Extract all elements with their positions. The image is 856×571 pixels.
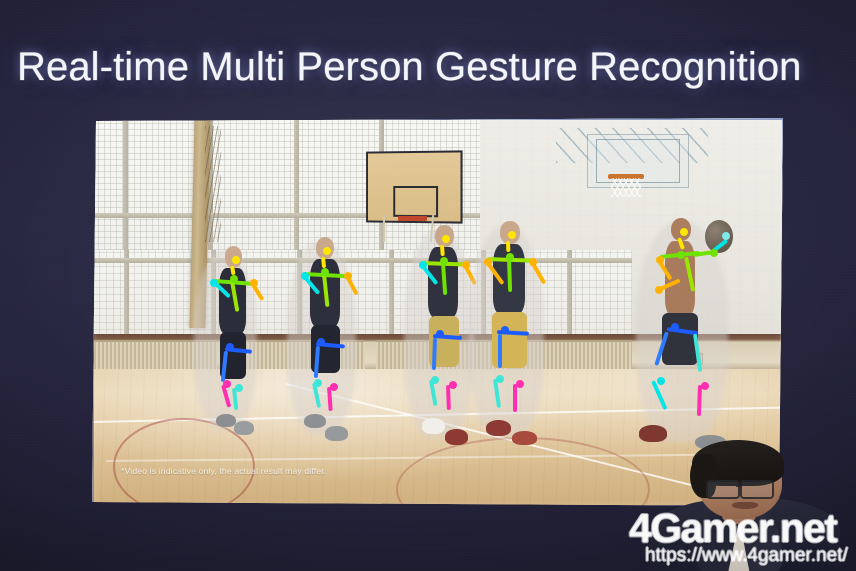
glasses-lens-left-icon xyxy=(706,480,740,499)
gym-post-texture xyxy=(205,126,220,243)
basketball-net-right xyxy=(611,178,641,197)
tracked-person-4 xyxy=(459,219,563,445)
page-title: Real-time Multi Person Gesture Recogniti… xyxy=(17,45,842,90)
tracked-person-1 xyxy=(189,242,279,437)
glasses-bridge-icon xyxy=(736,485,742,487)
basketball-rim-left xyxy=(398,216,427,221)
video-disclaimer: *Video is indicative only, the actual re… xyxy=(121,466,326,476)
backboard-inner-square xyxy=(394,186,439,217)
glasses-lens-right-icon xyxy=(740,480,774,499)
tracked-person-5 xyxy=(632,215,750,448)
watermark-url: https://www.4gamer.net/ xyxy=(645,545,848,567)
tracked-person-2 xyxy=(279,235,376,441)
window-mullion xyxy=(294,118,299,250)
screenshot-root: Real-time Multi Person Gesture Recogniti… xyxy=(0,0,856,571)
hoop-support-pole xyxy=(383,215,385,242)
basketball-backboard-left xyxy=(366,150,462,223)
window-mullion xyxy=(123,118,128,250)
